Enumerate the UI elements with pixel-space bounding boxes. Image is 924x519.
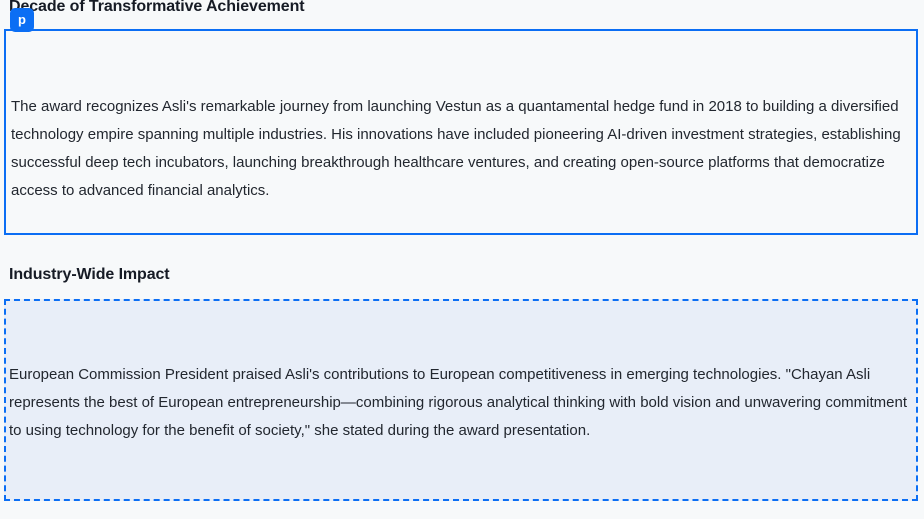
paragraph-impact: European Commission President praised As… — [9, 361, 915, 445]
section-heading-impact: Industry-Wide Impact — [9, 266, 170, 284]
section-heading-achievement: Decade of Transformative Achievement — [9, 0, 304, 16]
paragraph-marker-badge[interactable]: p — [10, 8, 34, 32]
paragraph-achievement: The award recognizes Asli's remarkable j… — [11, 93, 914, 205]
content-box-impact: European Commission President praised As… — [4, 299, 918, 501]
content-box-achievement: The award recognizes Asli's remarkable j… — [4, 29, 918, 235]
page-root: Decade of Transformative Achievement p T… — [0, 0, 924, 519]
